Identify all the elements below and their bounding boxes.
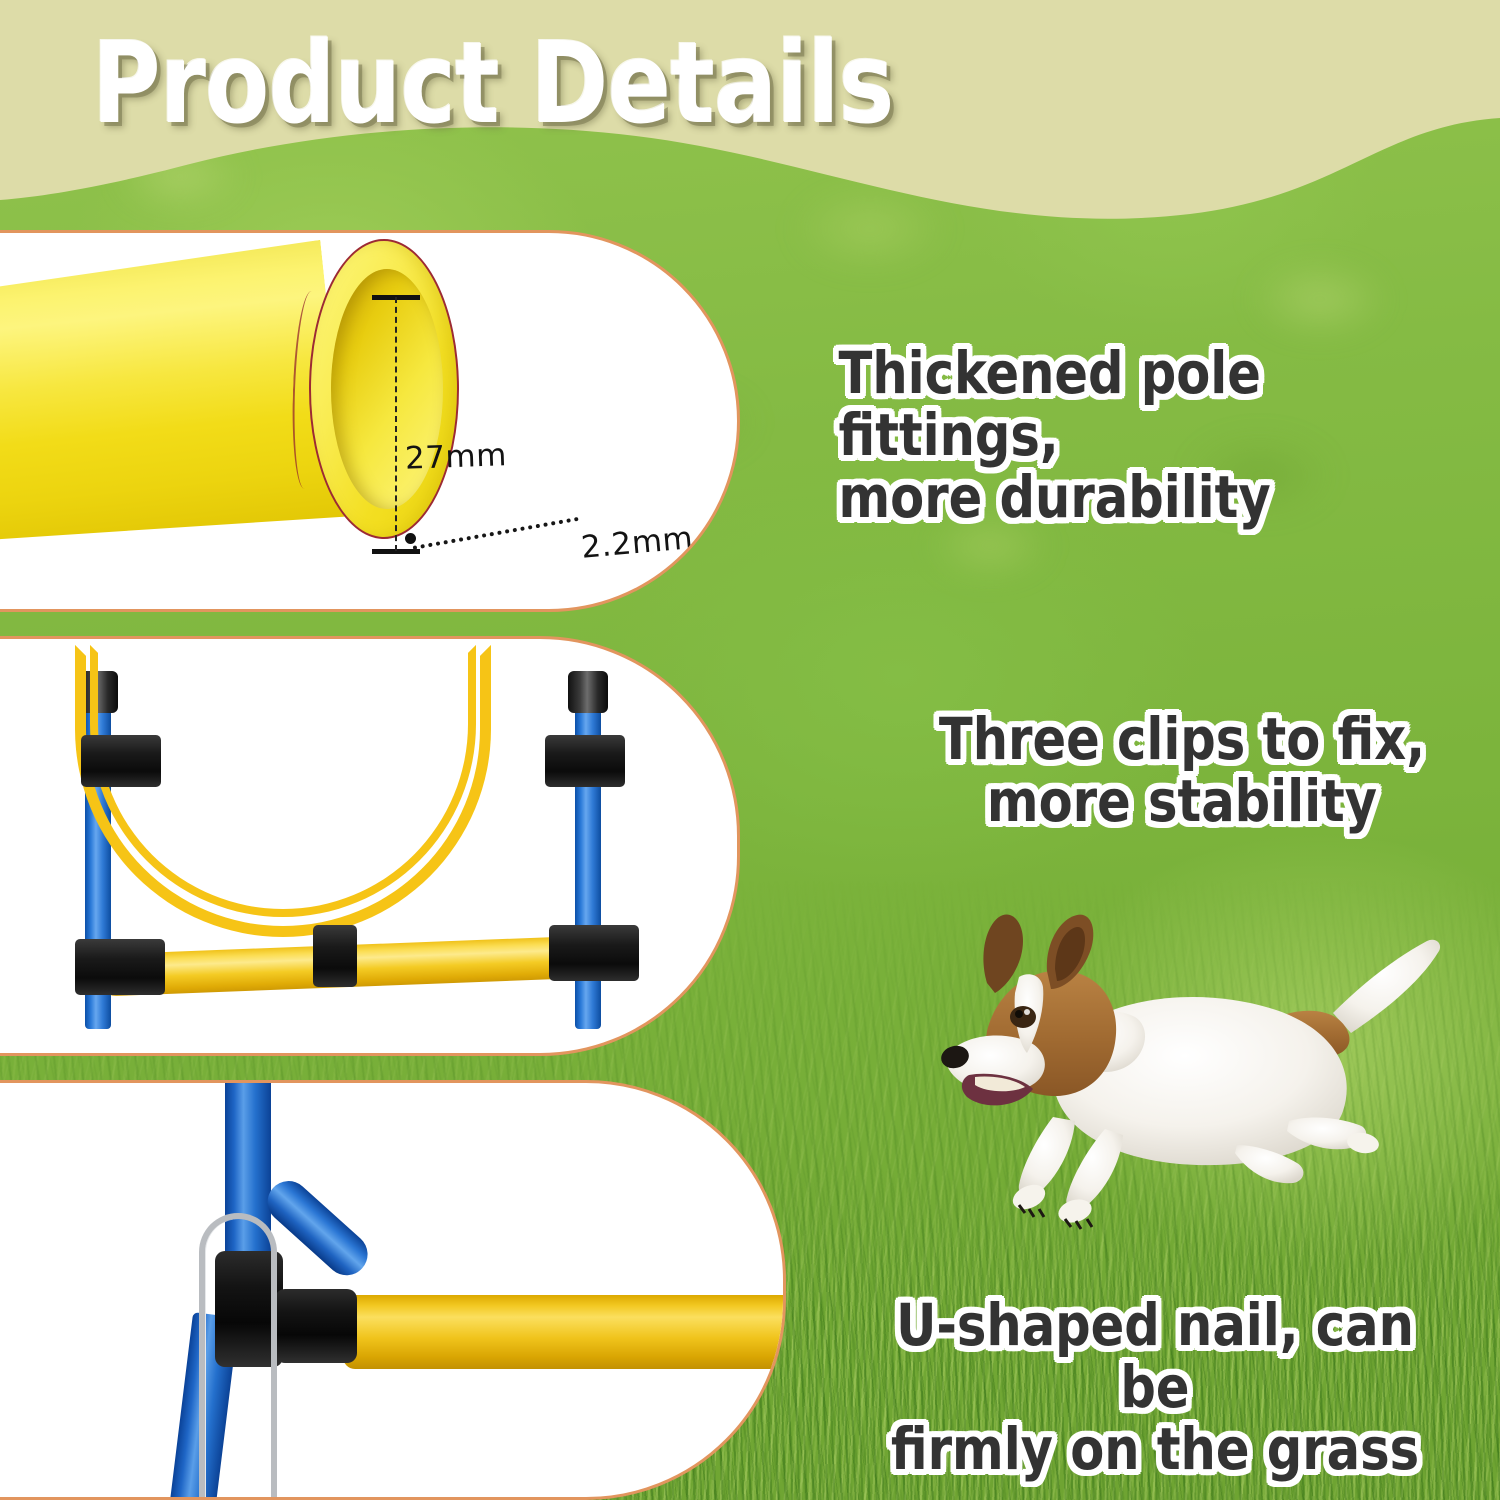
page-title: Product Details bbox=[92, 28, 893, 140]
panel-hurdle-assembly bbox=[0, 636, 740, 1056]
wall-thickness-label: 2.2mm bbox=[580, 520, 695, 566]
black-tee-sleeve bbox=[275, 1289, 357, 1363]
clip-left-crossbar bbox=[75, 939, 165, 995]
header-banner: Product Details bbox=[0, 0, 1500, 230]
callout-three-clips: Three clips to fix, more stability bbox=[916, 708, 1448, 832]
callout-2-line-2: more stability bbox=[916, 770, 1448, 832]
clip-center-crossbar bbox=[313, 925, 357, 987]
yellow-crossbar-stake bbox=[343, 1295, 786, 1369]
panel-tube-cross-section: 27mm 2.2mm bbox=[0, 230, 740, 612]
callout-3-line-1: U-shaped nail, can be bbox=[856, 1294, 1455, 1418]
callout-thickened-pole-fittings: Thickened pole fittings, more durability bbox=[839, 342, 1466, 528]
running-terrier-illustration bbox=[935, 885, 1495, 1255]
panel-u-nail-detail bbox=[0, 1080, 786, 1500]
callout-3-line-2: firmly on the grass bbox=[856, 1418, 1455, 1480]
clip-right-arch bbox=[545, 735, 625, 787]
callout-1-line-1: Thickened pole fittings, bbox=[839, 342, 1466, 466]
diameter-label: 27mm bbox=[404, 437, 507, 477]
callout-1-line-2: more durability bbox=[839, 466, 1466, 528]
right-post-cap bbox=[568, 671, 608, 713]
u-shaped-ground-nail bbox=[199, 1213, 277, 1500]
clip-right-crossbar bbox=[549, 925, 639, 981]
diameter-dimension-line bbox=[395, 297, 397, 551]
callout-u-shaped-nail: U-shaped nail, can be firmly on the gras… bbox=[856, 1294, 1455, 1480]
thickness-leader-line bbox=[413, 517, 579, 550]
thickness-leader-dot bbox=[405, 533, 416, 544]
dog-photo bbox=[935, 885, 1495, 1255]
clip-left-arch bbox=[81, 735, 161, 787]
callout-2-line-1: Three clips to fix, bbox=[916, 708, 1448, 770]
